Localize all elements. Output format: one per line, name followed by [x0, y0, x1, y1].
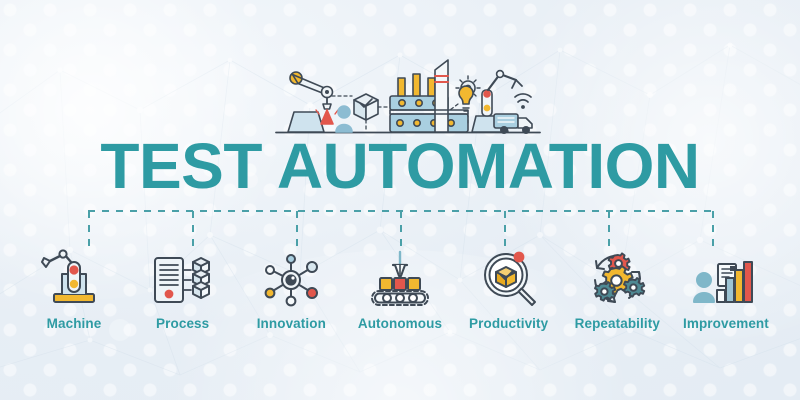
feature-label-process: Process — [156, 316, 209, 331]
gears-cycle-icon — [583, 248, 651, 310]
page-title: TEST AUTOMATION — [0, 134, 800, 198]
feature-label-repeatability: Repeatability — [575, 316, 660, 331]
feature-item-innovation[interactable]: Innovation — [237, 248, 345, 331]
factory-automation-illustration — [272, 52, 544, 140]
feature-item-autonomous[interactable]: Autonomous — [346, 248, 454, 331]
server-boxes-icon — [149, 248, 217, 310]
feature-item-process[interactable]: Process — [129, 248, 237, 331]
wifi-signal — [515, 94, 531, 109]
robot-arm-icon — [40, 248, 108, 310]
smokestack — [435, 60, 448, 132]
feature-item-machine[interactable]: Machine — [20, 248, 128, 331]
worker-figure — [336, 106, 352, 132]
person-bar-chart-icon — [692, 248, 760, 310]
package-box — [354, 94, 378, 120]
feature-icon-row: Machine — [20, 248, 780, 348]
feature-item-productivity[interactable]: Productivity — [455, 248, 563, 331]
conveyor-claw-icon — [366, 248, 434, 310]
dashed-connector-bracket — [0, 196, 800, 256]
feature-item-improvement[interactable]: Improvement — [672, 248, 780, 331]
feature-item-repeatability[interactable]: Repeatability — [563, 248, 671, 331]
feature-label-autonomous: Autonomous — [358, 316, 442, 331]
test-automation-banner: TEST AUTOMATION — [0, 0, 800, 400]
feature-label-improvement: Improvement — [683, 316, 769, 331]
network-nodes-icon — [257, 248, 325, 310]
feature-label-machine: Machine — [47, 316, 102, 331]
magnifier-box-icon — [475, 248, 543, 310]
factory-building — [390, 74, 468, 132]
feature-label-productivity: Productivity — [469, 316, 548, 331]
feature-label-innovation: Innovation — [257, 316, 326, 331]
